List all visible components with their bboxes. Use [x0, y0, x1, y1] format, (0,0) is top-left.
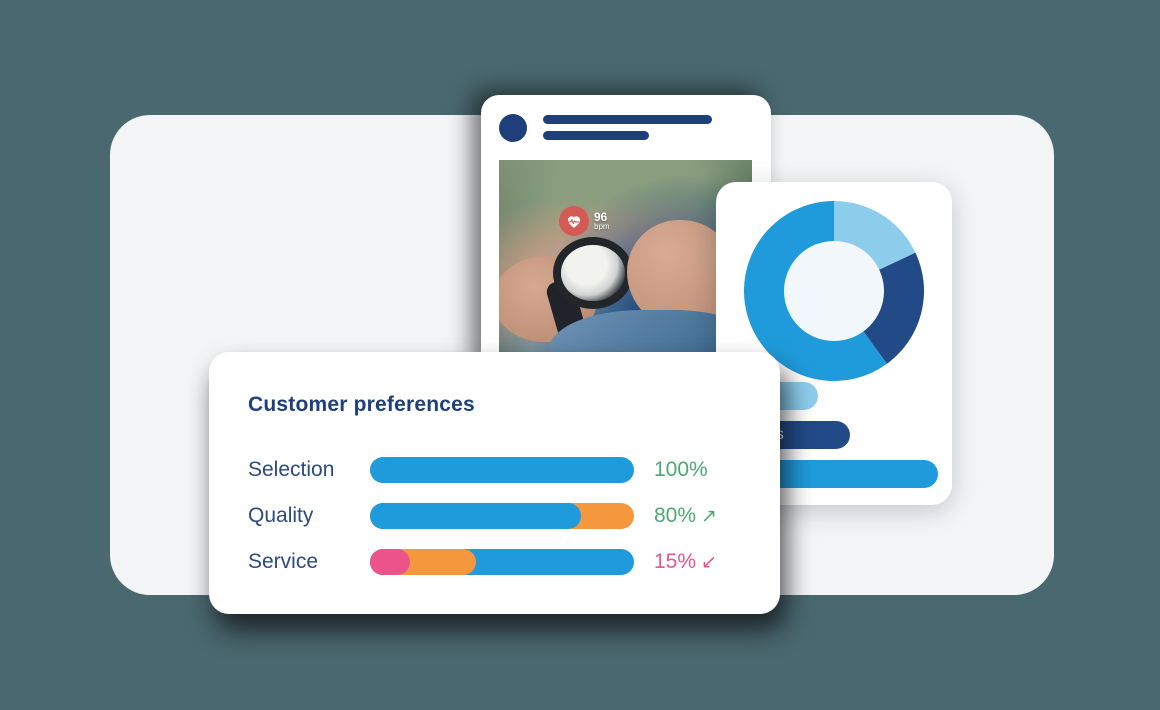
donut-hole — [784, 241, 884, 341]
preference-bar — [370, 503, 634, 529]
heart-rate-badge: 96 bpm — [559, 206, 610, 236]
post-photo: 96 bpm — [499, 160, 752, 363]
preference-value-text: 15% — [654, 550, 696, 574]
preference-bar-segment — [370, 549, 410, 575]
preferences-row-list: Selection100%Quality80%↗Service15%↙ — [248, 447, 758, 585]
post-card-header — [481, 95, 771, 160]
heart-rate-unit: bpm — [594, 223, 610, 231]
page-title: Customer preferences — [248, 393, 475, 417]
preference-bar-segment — [370, 503, 581, 529]
preference-label: Selection — [248, 458, 370, 482]
trend-up-icon: ↗ — [701, 507, 717, 526]
preference-row: Selection100% — [248, 447, 758, 493]
scene: 96 bpm 35-44 Athletes Female — [0, 0, 1160, 710]
preference-label: Quality — [248, 504, 370, 528]
placeholder-line-primary — [543, 115, 712, 124]
smartwatch-face — [561, 245, 625, 301]
donut-chart — [744, 201, 924, 381]
preference-value: 80%↗ — [654, 504, 717, 528]
preference-row: Service15%↙ — [248, 539, 758, 585]
preference-value-text: 100% — [654, 458, 708, 482]
preference-bar — [370, 457, 634, 483]
heart-pulse-icon — [559, 206, 589, 236]
placeholder-line-secondary — [543, 131, 649, 140]
customer-preferences-card[interactable]: Customer preferences Selection100%Qualit… — [209, 352, 780, 614]
preference-value-text: 80% — [654, 504, 696, 528]
preference-row: Quality80%↗ — [248, 493, 758, 539]
placeholder-text-lines — [543, 115, 712, 140]
avatar — [499, 114, 527, 142]
heart-rate-readout: 96 bpm — [594, 211, 610, 231]
preference-value: 15%↙ — [654, 550, 717, 574]
trend-down-icon: ↙ — [701, 553, 717, 572]
preference-label: Service — [248, 550, 370, 574]
preference-bar — [370, 549, 634, 575]
preference-bar-segment — [370, 457, 634, 483]
preference-value: 100% — [654, 458, 708, 482]
